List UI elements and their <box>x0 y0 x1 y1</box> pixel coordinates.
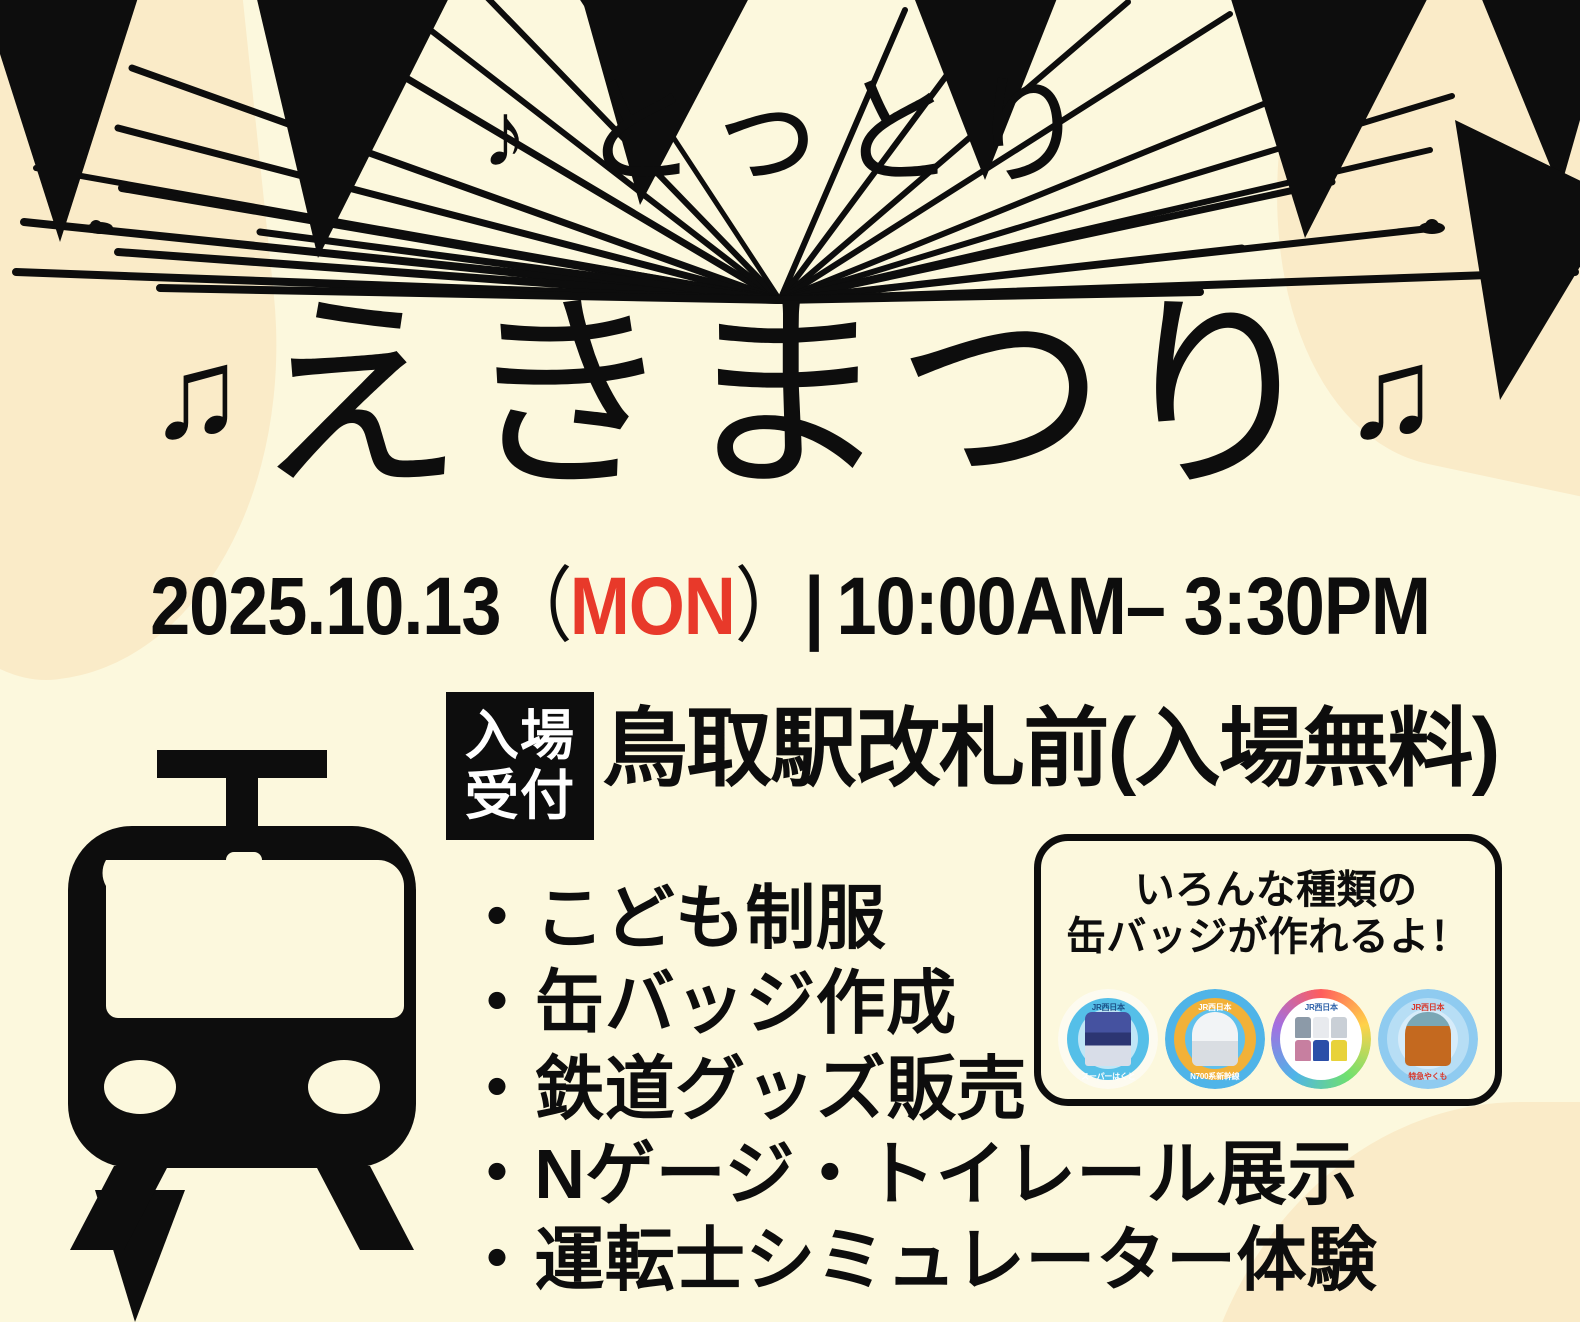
tram-icon <box>62 742 422 1254</box>
poster-canvas: ♪とっとり ♫えきまつり♫ 2025.10.13（MON）|10:00AM– 3… <box>0 0 1580 1322</box>
promo-caption-line-1: いろんな種類の <box>1041 867 1495 914</box>
can-badge-sample-3: JR西日本 <box>1271 989 1371 1089</box>
promo-caption-line-2: 缶バッジが作れるよ！ <box>1041 914 1495 961</box>
list-item: ・Nゲージ・トイレール展示 <box>462 1132 1377 1217</box>
list-item-label: 運転士シミュレーター体験 <box>534 1221 1377 1299</box>
can-badge-sample-2: JR西日本 N700系新幹線 <box>1165 989 1265 1089</box>
ray-dots <box>87 219 1445 234</box>
badge-bottom-label: N700系新幹線 <box>1165 1071 1265 1082</box>
event-date: 2025.10.13 <box>150 561 500 652</box>
badge-train-art <box>1085 1012 1131 1066</box>
list-item-label: 缶バッジ作成 <box>534 964 956 1042</box>
list-item-label: 鉄道グッズ販売 <box>534 1050 1026 1128</box>
promo-caption: いろんな種類の 缶バッジが作れるよ！ <box>1041 867 1495 961</box>
title-tottori-text: とっとり <box>579 65 1099 199</box>
can-badge-sample-4: JR西日本 特急やくも <box>1378 989 1478 1089</box>
beamed-notes-icon-left: ♫ <box>148 322 236 465</box>
bullet-icon: ・ <box>462 1221 532 1299</box>
paren-open: （ <box>500 561 569 652</box>
venue-row: 入場 受付 鳥取駅改札前(入場無料) <box>446 692 1499 840</box>
list-item: ・運転士シミュレーター体験 <box>462 1218 1377 1303</box>
list-item-label: Nゲージ・トイレール展示 <box>534 1135 1357 1213</box>
badge-line-1: 入場 <box>465 706 575 766</box>
bullet-icon: ・ <box>462 879 532 957</box>
badge-train-art <box>1192 1012 1238 1066</box>
paren-close: ） <box>735 561 804 652</box>
date-time-divider: | <box>804 561 821 652</box>
badge-bottom-label: スーパーはくと <box>1058 1071 1158 1082</box>
eighth-note-icon: ♪ <box>482 84 539 186</box>
venue-location-text: 鳥取駅改札前(入場無料) <box>602 706 1499 792</box>
event-time: 10:00AM– 3:30PM <box>837 561 1430 652</box>
day-of-week: MON <box>570 561 735 652</box>
promo-badge-row: JR西日本 スーパーはくと JR西日本 N700系新幹線 JR西日本 <box>1041 989 1495 1089</box>
title-line-ekimatsuri: ♫えきまつり♫ <box>0 290 1580 502</box>
badge-train-art <box>1295 1017 1347 1061</box>
beamed-notes-icon-right: ♫ <box>1343 322 1431 465</box>
bullet-icon: ・ <box>462 1135 532 1213</box>
title-line-tottori: ♪とっとり <box>0 72 1580 192</box>
entrance-reception-badge: 入場 受付 <box>446 692 594 840</box>
title-ekimatsuri-text: えきまつり <box>253 277 1328 514</box>
badge-bottom-label: 特急やくも <box>1378 1071 1478 1082</box>
bullet-icon: ・ <box>462 1050 532 1128</box>
can-badge-promo-card: いろんな種類の 缶バッジが作れるよ！ JR西日本 スーパーはくと JR西日本 N… <box>1034 834 1502 1106</box>
date-time-row: 2025.10.13（MON）|10:00AM– 3:30PM <box>95 566 1485 648</box>
list-item-label: こども制服 <box>534 879 886 957</box>
can-badge-sample-1: JR西日本 スーパーはくと <box>1058 989 1158 1089</box>
badge-top-label: JR西日本 <box>1271 1002 1371 1013</box>
bullet-icon: ・ <box>462 964 532 1042</box>
badge-train-art <box>1405 1012 1451 1066</box>
badge-line-2: 受付 <box>465 766 575 826</box>
